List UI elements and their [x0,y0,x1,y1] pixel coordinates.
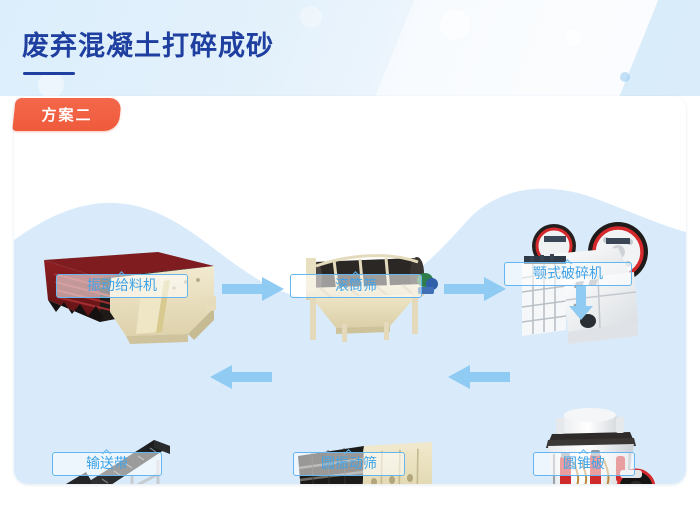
caret-icon [562,257,574,264]
label-vibrating-screen[interactable]: 圆振动筛 [293,452,405,476]
caret-icon [578,447,590,454]
label-text: 振动给料机 [87,278,157,294]
page-header: 废弃混凝土打碎成砂 [0,0,700,96]
caret-icon [343,447,355,454]
header-bubble [565,30,581,46]
label-text: 圆振动筛 [321,456,377,472]
caret-icon [350,269,362,276]
arrow-right-2 [444,276,508,302]
arrow-right-1 [222,276,286,302]
title-underline [23,72,75,75]
header-bubble [38,72,64,96]
label-text: 滚筒筛 [335,278,377,294]
label-vibrating-feeder[interactable]: 振动给料机 [56,274,188,298]
header-bubble [620,72,630,82]
caret-icon [116,269,128,276]
label-text: 圆锥破 [563,456,605,472]
caret-icon [101,447,113,454]
arrow-left-5 [208,364,272,390]
arrow-down-3 [568,286,594,322]
header-bubble [440,10,470,40]
label-cone-crusher[interactable]: 圆锥破 [533,452,635,476]
arrow-left-4 [446,364,510,390]
page-title: 废弃混凝土打碎成砂 [22,24,274,63]
label-text: 颚式破碎机 [533,266,603,282]
label-conveyor-belt[interactable]: 输送带 [52,452,162,476]
page-root: 废弃混凝土打碎成砂 [0,0,700,507]
label-text: 输送带 [86,456,128,472]
header-bubble [300,6,322,28]
flow-card: 振动给料机 滚筒筛 颚式破碎机 圆锥破 圆振动筛 输送带 [14,96,686,484]
label-jaw-crusher[interactable]: 颚式破碎机 [504,262,632,286]
label-trommel-screen[interactable]: 滚筒筛 [290,274,422,298]
plan-badge-label: 方案二 [14,98,120,131]
